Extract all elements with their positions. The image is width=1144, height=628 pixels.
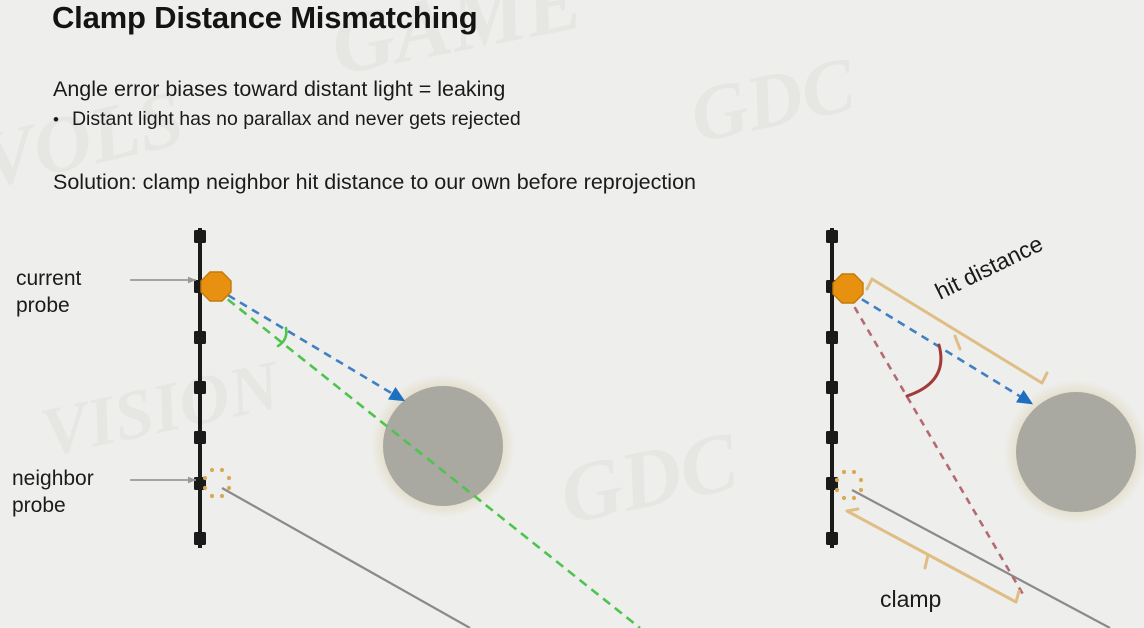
left-neighbor-probe [203, 468, 231, 498]
right-neighbor-probe [835, 470, 863, 500]
label-hit-distance: hit distance [931, 230, 1047, 304]
left-current-probe [200, 270, 232, 302]
left-panel-group: current probe neighbor probe [12, 228, 640, 628]
left-angle-arc [278, 328, 286, 346]
right-current-probe [832, 272, 864, 304]
label-neighbor-probe-line2: probe [12, 494, 66, 517]
left-green-ray [216, 290, 640, 628]
left-blue-ray [216, 288, 398, 397]
clamp-distance-diagram: current probe neighbor probe [0, 0, 1144, 628]
label-current-probe-line2: probe [16, 294, 70, 317]
right-occluder-sphere [1016, 392, 1136, 512]
right-angle-arc [907, 345, 941, 396]
right-panel-group: hit distance clamp [826, 228, 1144, 628]
label-neighbor-probe-line1: neighbor [12, 467, 94, 490]
slide-root: VOLS GAME GDC GDC VISION Clamp Distance … [0, 0, 1144, 628]
label-current-probe-line1: current [16, 267, 82, 290]
left-occluder-sphere [383, 386, 503, 506]
label-clamp: clamp [880, 586, 941, 612]
right-red-ray [848, 296, 1024, 596]
